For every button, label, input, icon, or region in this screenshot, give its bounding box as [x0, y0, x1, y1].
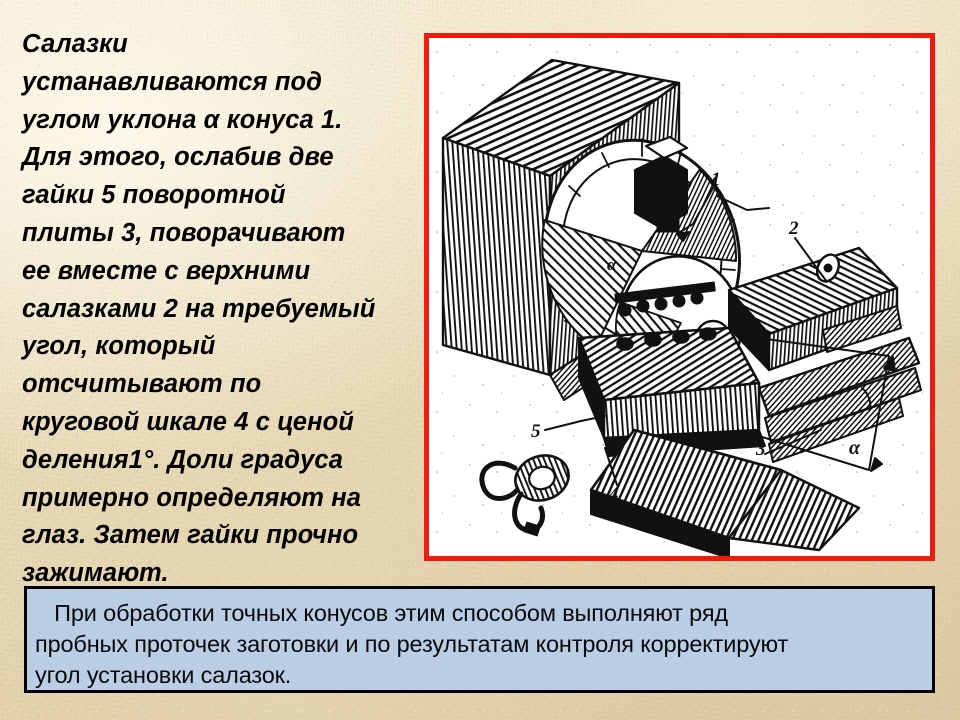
figure-image: 1 2 3 4 5 α α: [429, 38, 930, 556]
body-text-block: Салазки устанавливаются под углом уклона…: [22, 26, 414, 593]
callout-label-4: 4: [608, 484, 619, 505]
caption-box: При обработки точных конусов этим способ…: [24, 586, 935, 693]
slide-canvas: Салазки устанавливаются под углом уклона…: [0, 0, 960, 720]
callout-label-5: 5: [531, 421, 541, 442]
caption-text: При обработки точных конусов этим способ…: [35, 598, 922, 691]
figure-frame: 1 2 3 4 5 α α: [424, 33, 935, 561]
body-paragraph: Салазки устанавливаются под углом уклона…: [22, 26, 414, 593]
dial-alpha-mark: α: [607, 255, 617, 274]
callout-label-3: 3: [755, 439, 766, 460]
callout-label-alpha: α: [849, 437, 861, 459]
lathe-compound-slide-drawing: 1 2 3 4 5 α α: [429, 38, 930, 556]
callout-label-2: 2: [788, 218, 799, 239]
callout-label-1: 1: [711, 169, 721, 190]
